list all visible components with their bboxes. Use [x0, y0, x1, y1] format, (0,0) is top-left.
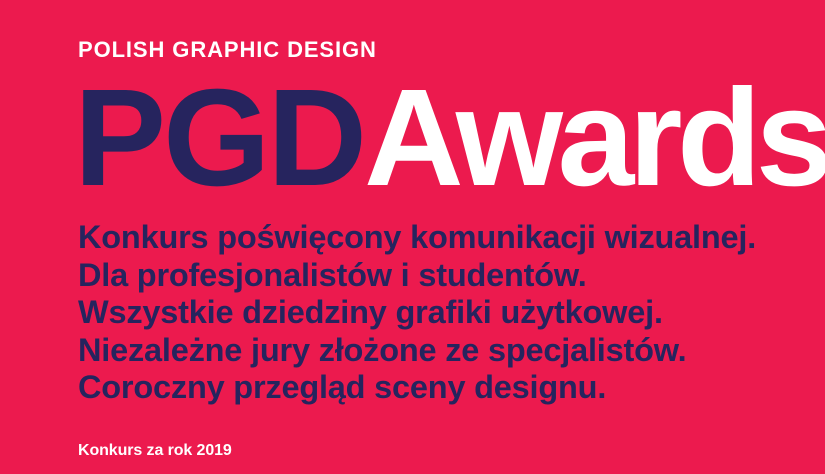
footnote-edition-year: Konkurs za rok 2019	[78, 443, 232, 459]
poster-canvas: POLISH GRAPHIC DESIGN PGDAwards Konkurs …	[0, 0, 825, 474]
description-line-1: Konkurs poświęcony komunikacji wizualnej…	[78, 219, 756, 257]
description-line-2: Dla profesjonalistów i studentów.	[78, 257, 756, 295]
description-line-5: Coroczny przegląd sceny designu.	[78, 369, 756, 407]
description-line-3: Wszystkie dziedziny grafiki użytkowej.	[78, 294, 756, 332]
logotype-pgd-awards: PGDAwards	[74, 69, 825, 207]
kicker-polish-graphic-design: POLISH GRAPHIC DESIGN	[78, 39, 377, 61]
description-block: Konkurs poświęcony komunikacji wizualnej…	[78, 219, 756, 407]
description-line-4: Niezależne jury złożone ze specjalistów.	[78, 332, 756, 370]
logotype-pgd: PGD	[74, 61, 364, 215]
logotype-awards: Awards	[364, 61, 825, 215]
